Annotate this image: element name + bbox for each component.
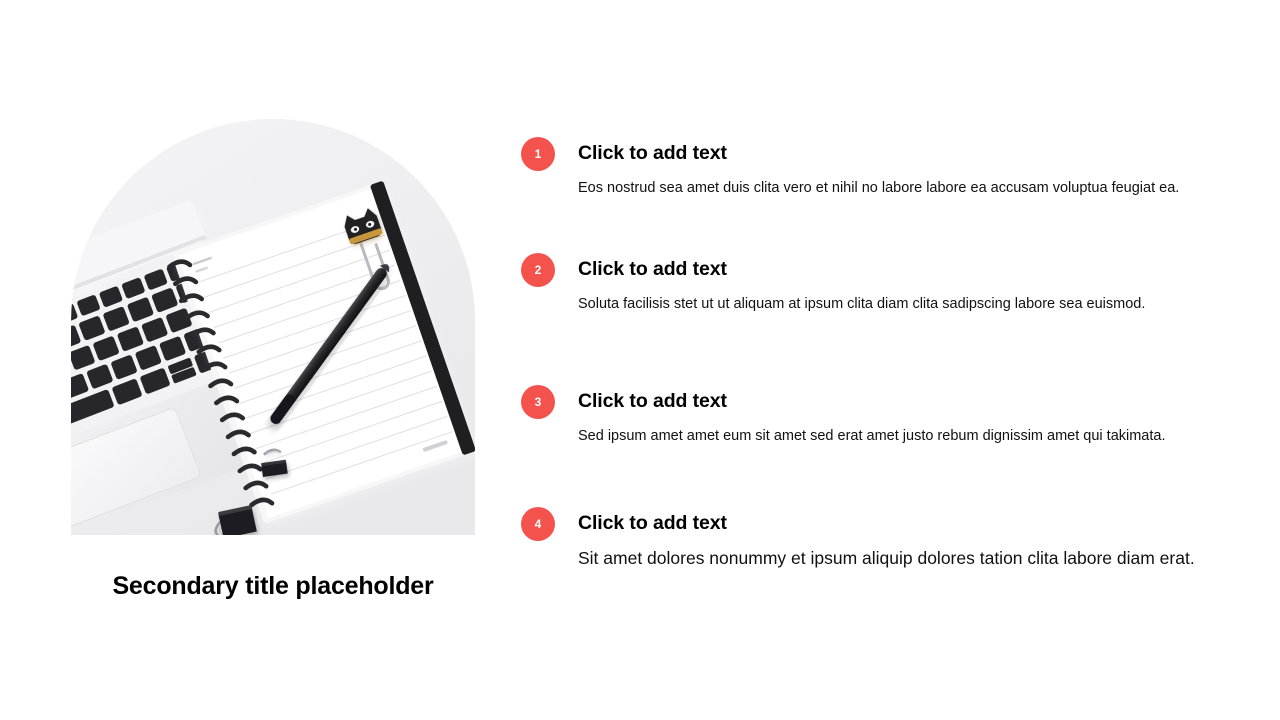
desk-flatlay-illustration bbox=[71, 119, 475, 535]
feature-body-1[interactable]: Eos nostrud sea amet duis clita vero et … bbox=[578, 177, 1208, 199]
feature-number-badge-4: 4 bbox=[521, 507, 555, 541]
feature-item-4: 4 Click to add text Sit amet dolores non… bbox=[521, 506, 1211, 572]
feature-list: 1 Click to add text Eos nostrud sea amet… bbox=[521, 136, 1211, 571]
feature-heading-1[interactable]: Click to add text bbox=[578, 136, 1211, 165]
feature-heading-3[interactable]: Click to add text bbox=[578, 384, 1211, 413]
feature-number-badge-3: 3 bbox=[521, 385, 555, 419]
feature-item-2: 2 Click to add text Soluta facilisis ste… bbox=[521, 252, 1211, 316]
feature-body-2[interactable]: Soluta facilisis stet ut ut aliquam at i… bbox=[578, 293, 1208, 315]
feature-number-badge-2: 2 bbox=[521, 253, 555, 287]
left-column: Secondary title placeholder bbox=[71, 119, 475, 601]
slide: Secondary title placeholder 1 Click to a… bbox=[0, 0, 1280, 720]
feature-item-3: 3 Click to add text Sed ipsum amet amet … bbox=[521, 384, 1211, 448]
secondary-title[interactable]: Secondary title placeholder bbox=[71, 571, 475, 601]
feature-body-4[interactable]: Sit amet dolores nonummy et ipsum aliqui… bbox=[578, 545, 1203, 571]
feature-number-badge-1: 1 bbox=[521, 137, 555, 171]
feature-item-1: 1 Click to add text Eos nostrud sea amet… bbox=[521, 136, 1211, 200]
feature-body-3[interactable]: Sed ipsum amet amet eum sit amet sed era… bbox=[578, 425, 1208, 447]
feature-heading-4[interactable]: Click to add text bbox=[578, 506, 1211, 535]
feature-heading-2[interactable]: Click to add text bbox=[578, 252, 1211, 281]
desk-flatlay-photo bbox=[71, 119, 475, 535]
